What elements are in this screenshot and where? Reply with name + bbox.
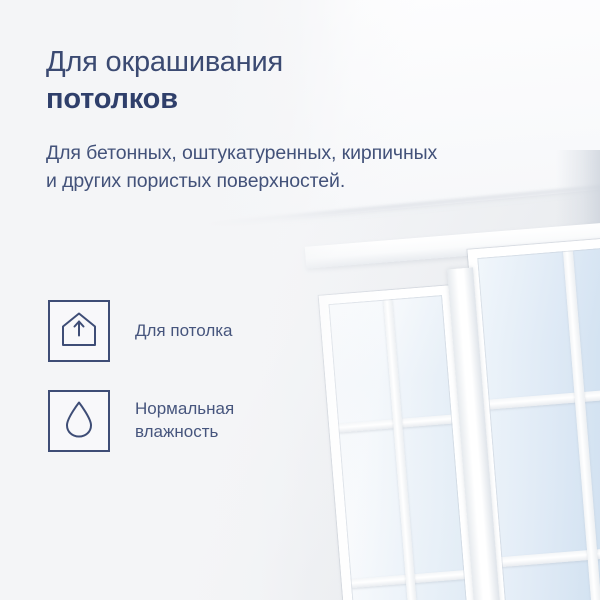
headline-line-2: потолков — [46, 81, 466, 118]
headline: Для окрашивания потолков — [46, 44, 466, 118]
feature-item-ceiling: Для потолка — [48, 300, 234, 362]
water-droplet-icon — [62, 399, 96, 444]
subheadline: Для бетонных, оштукатуренных, кирпичных … — [46, 140, 446, 195]
feature-label-ceiling: Для потолка — [135, 320, 233, 343]
feature-item-humidity: Нормальная влажность — [48, 390, 234, 452]
product-feature-banner: Для окрашивания потолков Для бетонных, о… — [0, 0, 600, 600]
feature-label-humidity: Нормальная влажность — [135, 398, 234, 444]
headline-line-1: Для окрашивания — [46, 46, 283, 78]
feature-icon-box — [48, 390, 110, 452]
ceiling-house-arrow-icon — [59, 309, 99, 354]
banner-content: Для окрашивания потолков Для бетонных, о… — [0, 0, 600, 600]
feature-icon-box — [48, 300, 110, 362]
feature-list: Для потолка Нормальная влажность — [48, 300, 234, 480]
